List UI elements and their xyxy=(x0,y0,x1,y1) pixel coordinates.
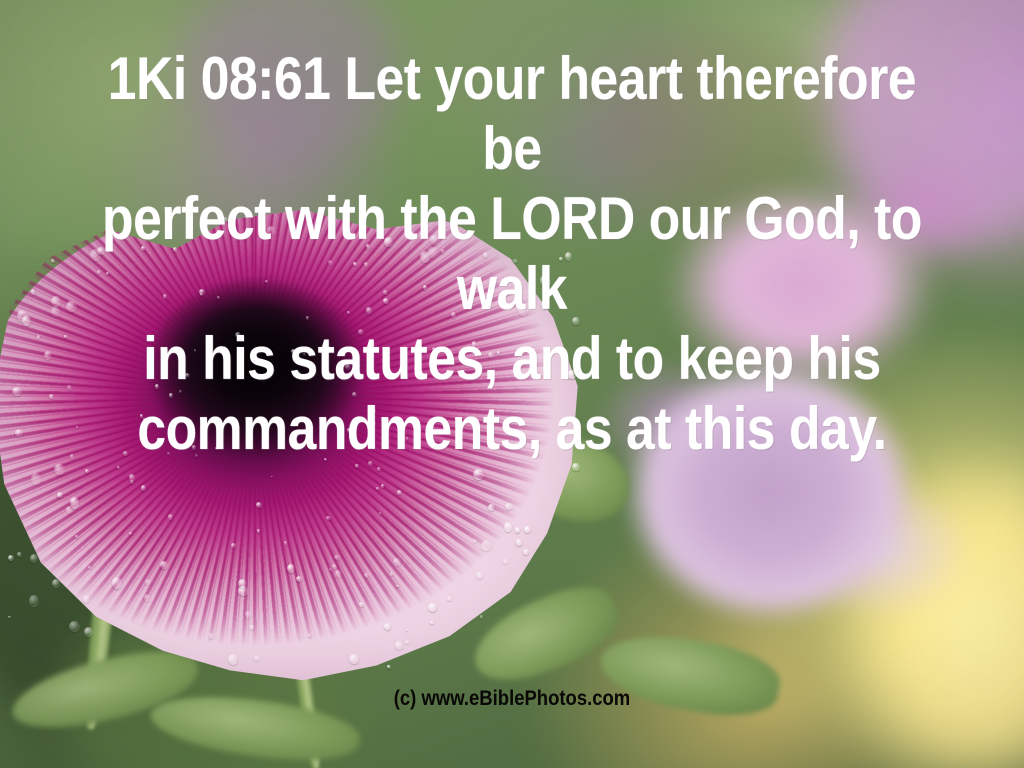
bible-verse-text: 1Ki 08:61 Let your heart therefore be pe… xyxy=(72,44,953,464)
photo-canvas: 1Ki 08:61 Let your heart therefore be pe… xyxy=(0,0,1024,768)
copyright-watermark: (c) www.eBiblePhotos.com xyxy=(61,688,962,710)
